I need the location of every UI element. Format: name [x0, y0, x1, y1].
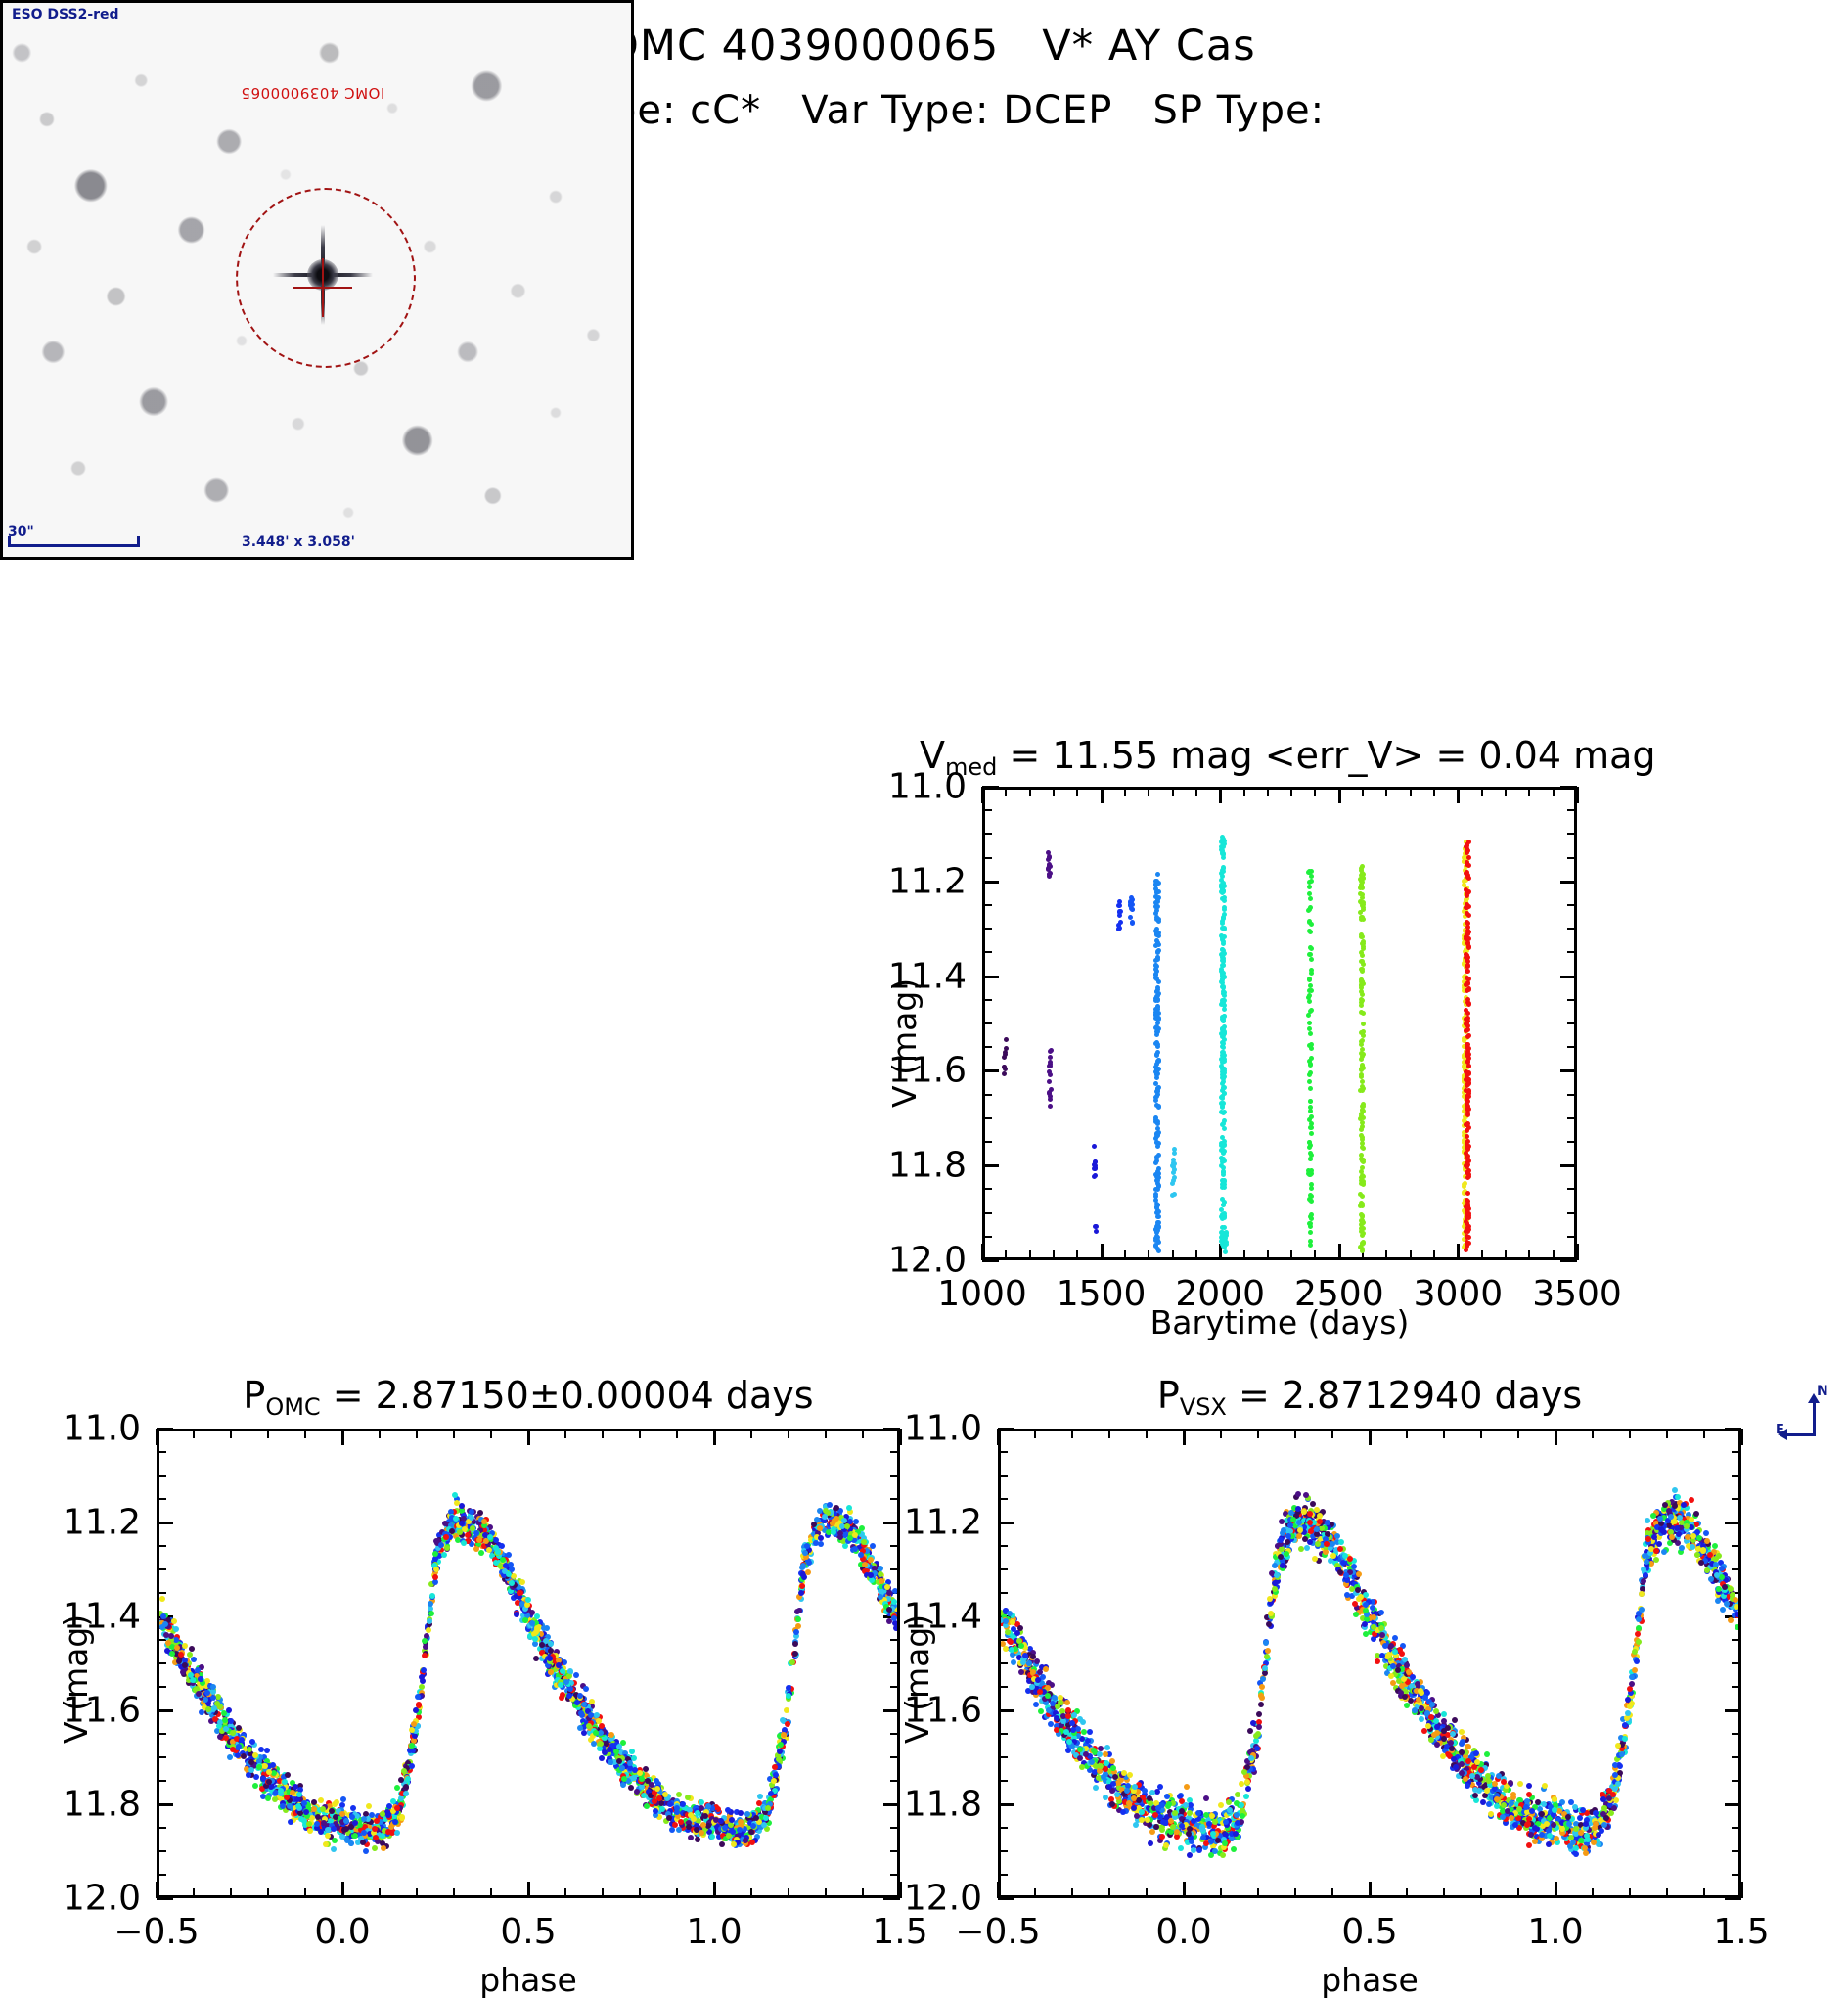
data-point	[1306, 1013, 1311, 1018]
data-point	[1465, 1121, 1470, 1126]
data-point	[1156, 1166, 1161, 1171]
data-point	[171, 1618, 177, 1624]
data-point	[509, 1580, 515, 1586]
data-point	[1359, 1074, 1364, 1079]
data-point	[449, 1528, 455, 1534]
data-point	[1304, 1545, 1310, 1551]
data-point	[598, 1741, 604, 1747]
y-major-tick	[982, 1259, 999, 1262]
data-point	[340, 1796, 346, 1802]
data-point	[1093, 1785, 1099, 1791]
data-point	[1220, 1060, 1225, 1065]
data-point	[230, 1747, 236, 1752]
data-point	[560, 1668, 565, 1674]
data-point	[1465, 1011, 1470, 1016]
data-point	[1360, 1204, 1365, 1208]
data-point	[834, 1516, 839, 1522]
data-point	[288, 1819, 293, 1825]
data-point	[1360, 1054, 1365, 1059]
data-point	[768, 1791, 774, 1796]
data-point	[481, 1519, 487, 1524]
data-point	[1155, 1220, 1160, 1225]
data-point	[1002, 1055, 1007, 1060]
data-point	[813, 1540, 819, 1546]
object-label-overlay: IOMC 4039000065	[241, 84, 384, 102]
data-point	[822, 1514, 828, 1520]
data-point	[426, 1627, 431, 1633]
data-point	[1308, 896, 1313, 901]
data-point	[1360, 953, 1365, 958]
data-point	[366, 1803, 372, 1809]
data-point	[577, 1693, 583, 1699]
data-point	[1309, 957, 1314, 962]
data-point	[599, 1755, 605, 1761]
x-tick-label: 0.0	[314, 1912, 370, 1952]
data-point	[893, 1625, 897, 1631]
x-major-tick	[156, 1429, 158, 1445]
data-point	[778, 1742, 784, 1748]
data-point	[1307, 1145, 1312, 1150]
title-subscript: VSX	[1180, 1393, 1227, 1421]
data-point	[1222, 1024, 1227, 1029]
data-point	[719, 1841, 725, 1847]
data-point	[1156, 1209, 1161, 1214]
data-point	[1359, 967, 1364, 972]
data-point	[196, 1691, 202, 1697]
data-point	[1221, 869, 1226, 874]
data-point	[1004, 1046, 1009, 1051]
data-point	[1154, 1134, 1159, 1139]
data-point	[685, 1795, 691, 1800]
y-tick-label: 11.2	[904, 1503, 982, 1543]
data-point	[776, 1756, 782, 1762]
data-point	[432, 1574, 438, 1580]
data-point	[1307, 988, 1312, 993]
data-point	[298, 1816, 304, 1822]
data-point	[597, 1746, 603, 1751]
data-point	[1221, 841, 1226, 846]
data-point	[423, 1644, 428, 1650]
data-point	[786, 1693, 791, 1699]
data-point	[1466, 1002, 1471, 1007]
data-point	[1465, 1034, 1470, 1039]
data-point	[1359, 884, 1364, 888]
data-point	[1361, 1146, 1366, 1151]
data-point	[1473, 1797, 1479, 1803]
data-point	[1103, 1795, 1108, 1800]
data-point	[548, 1648, 554, 1654]
data-point	[1221, 989, 1226, 994]
data-point	[1308, 930, 1313, 934]
data-point	[749, 1840, 755, 1845]
data-point	[1307, 1197, 1312, 1202]
data-point	[1466, 863, 1471, 868]
data-point	[1404, 1703, 1410, 1708]
data-point	[321, 1820, 327, 1826]
data-point	[318, 1829, 324, 1835]
data-point	[1153, 911, 1158, 916]
data-point	[223, 1726, 229, 1732]
data-point	[750, 1823, 756, 1829]
data-point	[1153, 1117, 1158, 1122]
finder-chart-panel[interactable]: ESO DSS2-red IOMC 4039000065 30" 3.448' …	[0, 0, 634, 560]
data-point	[163, 1632, 169, 1638]
data-point	[1465, 849, 1469, 854]
y-major-tick	[998, 1428, 1014, 1431]
title-subscript: OMC	[265, 1393, 320, 1421]
x-axis-label: phase	[479, 1961, 577, 1999]
data-point	[1308, 983, 1313, 988]
data-point	[433, 1567, 439, 1572]
data-point	[1360, 1165, 1365, 1170]
data-point	[1309, 1186, 1314, 1191]
data-point	[1155, 950, 1160, 955]
data-point	[1224, 1233, 1229, 1238]
data-point	[524, 1602, 530, 1608]
data-point	[165, 1640, 171, 1646]
data-point	[792, 1651, 798, 1657]
data-point	[1465, 893, 1469, 898]
data-point	[886, 1590, 892, 1596]
data-point	[1222, 1068, 1227, 1073]
data-point	[1308, 1157, 1313, 1161]
data-point	[1359, 977, 1364, 982]
data-point	[1466, 1215, 1471, 1220]
data-point	[499, 1543, 505, 1549]
data-point	[695, 1810, 700, 1816]
data-point	[1359, 1127, 1364, 1132]
data-point	[398, 1795, 404, 1801]
data-point	[409, 1743, 415, 1749]
data-point	[793, 1629, 799, 1635]
crosshair-vertical	[322, 258, 324, 317]
data-point	[1309, 1056, 1314, 1061]
data-point	[1465, 1128, 1469, 1133]
data-point	[616, 1744, 622, 1749]
data-point	[1220, 1158, 1225, 1162]
data-point	[1298, 1546, 1304, 1552]
data-point	[1360, 1120, 1365, 1125]
data-point	[608, 1759, 613, 1765]
data-point	[765, 1805, 771, 1811]
data-point	[680, 1801, 686, 1807]
data-point	[1656, 1541, 1662, 1547]
data-point	[878, 1566, 883, 1571]
x-major-tick	[997, 1429, 1000, 1445]
phase-omc-data-layer	[159, 1431, 897, 1895]
data-point	[577, 1725, 583, 1731]
data-point	[311, 1806, 317, 1812]
field-size-label: 3.448' x 3.058'	[242, 534, 355, 550]
data-point	[285, 1772, 291, 1778]
data-point	[1092, 1144, 1097, 1149]
data-point	[1222, 1003, 1227, 1008]
data-point	[303, 1809, 309, 1815]
data-point	[795, 1616, 801, 1622]
data-point	[453, 1516, 459, 1522]
data-point	[1155, 955, 1160, 960]
data-point	[1307, 1140, 1312, 1145]
y-major-tick	[157, 1897, 173, 1900]
data-point	[1221, 881, 1226, 886]
x-tick-label: 3000	[1414, 1274, 1504, 1314]
data-point	[1221, 1045, 1226, 1050]
data-point	[1309, 1131, 1314, 1136]
data-point	[1038, 1708, 1044, 1714]
data-point	[1153, 1192, 1158, 1197]
data-point	[178, 1652, 184, 1658]
data-point	[1360, 1088, 1365, 1093]
data-point	[1359, 1003, 1364, 1008]
data-point	[842, 1543, 848, 1549]
data-point	[454, 1500, 460, 1506]
x-tick-label: 3500	[1532, 1274, 1622, 1314]
data-point	[1672, 1487, 1678, 1493]
data-point	[1309, 1171, 1314, 1176]
data-point	[798, 1590, 804, 1596]
data-point	[343, 1818, 349, 1824]
data-point	[159, 1596, 165, 1602]
data-point	[1172, 1161, 1177, 1166]
data-point	[1222, 898, 1227, 903]
data-point	[1486, 1801, 1492, 1807]
y-axis-label: V (mag)	[898, 1614, 936, 1744]
data-point	[394, 1830, 400, 1836]
data-point	[1466, 913, 1471, 918]
data-point	[645, 1778, 651, 1784]
x-axis-label: phase	[1321, 1961, 1419, 1999]
data-point	[1220, 1031, 1225, 1036]
x-axis-label: Barytime (days)	[1150, 1303, 1410, 1341]
data-point	[702, 1813, 708, 1819]
data-point	[1231, 1846, 1237, 1852]
data-point	[1465, 870, 1469, 875]
data-point	[878, 1594, 883, 1600]
data-point	[1153, 973, 1158, 977]
data-point	[607, 1747, 612, 1752]
data-point	[1465, 969, 1469, 974]
data-point	[870, 1543, 876, 1549]
data-point	[1154, 964, 1159, 969]
data-point	[608, 1732, 614, 1738]
lightcurve-barytime-title: Vmed = 11.55 mag <err_V> = 0.04 mag	[920, 734, 1644, 781]
phase-vsx-data-layer	[1001, 1431, 1738, 1895]
y-tick-label: 12.0	[63, 1879, 141, 1919]
data-point	[756, 1800, 762, 1806]
data-point	[249, 1739, 255, 1745]
data-point	[1361, 1182, 1366, 1187]
data-point	[637, 1770, 643, 1776]
data-point	[676, 1827, 682, 1833]
data-point	[678, 1819, 684, 1825]
data-point	[1048, 871, 1053, 876]
data-point	[1361, 1066, 1366, 1070]
data-point	[763, 1815, 769, 1821]
data-point	[695, 1837, 700, 1842]
data-point	[1308, 1086, 1313, 1091]
data-point	[1309, 1212, 1314, 1217]
data-point	[1220, 1185, 1225, 1190]
data-point	[1048, 1049, 1053, 1054]
data-point	[343, 1826, 349, 1832]
data-point	[827, 1502, 833, 1508]
data-point	[533, 1656, 539, 1661]
data-point	[844, 1523, 850, 1529]
x-major-tick	[981, 787, 984, 803]
data-point	[1092, 1166, 1097, 1171]
data-point	[1361, 1231, 1366, 1236]
y-tick-label: 11.8	[888, 1146, 967, 1186]
data-point	[1465, 905, 1469, 910]
title-symbol: P	[243, 1374, 265, 1417]
data-point	[1419, 1716, 1424, 1722]
y-tick-label: 11.2	[63, 1503, 141, 1543]
data-point	[659, 1806, 665, 1812]
data-point	[373, 1835, 379, 1840]
data-point	[1307, 1026, 1312, 1031]
data-point	[799, 1583, 805, 1589]
data-point	[598, 1730, 604, 1736]
data-point	[1465, 1144, 1469, 1149]
data-point	[1220, 1213, 1225, 1218]
data-point	[676, 1792, 682, 1797]
data-point	[1308, 1063, 1313, 1068]
data-point	[1308, 1109, 1313, 1113]
data-point	[1465, 1134, 1469, 1139]
data-point	[441, 1552, 447, 1558]
data-point	[1452, 1717, 1458, 1723]
data-point	[1360, 1218, 1365, 1223]
y-tick-label: 11.0	[904, 1409, 982, 1449]
data-point	[398, 1777, 404, 1783]
data-point	[1703, 1530, 1709, 1536]
data-point	[265, 1795, 271, 1801]
data-point	[236, 1725, 242, 1731]
data-point	[1360, 934, 1365, 939]
data-point	[862, 1562, 868, 1567]
data-point	[1361, 946, 1366, 951]
x-major-tick	[899, 1429, 902, 1445]
data-point	[1224, 1242, 1229, 1247]
data-point	[722, 1825, 728, 1831]
data-point	[1128, 915, 1133, 920]
data-point	[301, 1800, 307, 1806]
data-point	[853, 1519, 859, 1524]
scale-bar-label: 30"	[8, 524, 34, 540]
x-major-tick	[1576, 1244, 1579, 1260]
data-point	[1526, 1842, 1532, 1848]
y-major-tick	[157, 1428, 173, 1431]
data-point	[1004, 1037, 1009, 1042]
data-point	[252, 1783, 258, 1789]
data-point	[1728, 1617, 1734, 1623]
data-point	[1465, 1209, 1469, 1214]
data-point	[514, 1612, 519, 1617]
data-point	[573, 1672, 579, 1678]
data-point	[653, 1808, 658, 1814]
data-point	[1466, 1174, 1471, 1179]
data-point	[413, 1707, 419, 1713]
data-point	[1221, 1079, 1226, 1084]
y-tick-label: 11.0	[888, 767, 967, 807]
data-point	[339, 1811, 345, 1817]
data-point	[1361, 1159, 1366, 1164]
data-point	[198, 1676, 203, 1682]
data-point	[700, 1822, 706, 1828]
data-point	[1392, 1635, 1398, 1641]
x-tick-label: 1.0	[686, 1912, 742, 1952]
y-axis-label: V (mag)	[885, 978, 924, 1108]
y-major-tick	[883, 1428, 900, 1431]
data-point	[428, 1601, 433, 1607]
y-axis-label: V (mag)	[57, 1614, 95, 1744]
data-point	[1221, 851, 1226, 856]
data-point	[403, 1791, 409, 1796]
data-point	[709, 1834, 715, 1840]
data-point	[421, 1667, 427, 1673]
data-point	[443, 1534, 449, 1540]
data-point	[478, 1550, 484, 1556]
data-point	[182, 1662, 188, 1668]
data-point	[331, 1846, 337, 1852]
data-point	[350, 1805, 356, 1811]
data-point	[173, 1637, 179, 1643]
data-point	[886, 1607, 892, 1613]
data-point	[1219, 1207, 1224, 1212]
data-point	[459, 1521, 465, 1526]
data-point	[861, 1539, 867, 1545]
data-point	[428, 1611, 434, 1616]
data-point	[1720, 1607, 1726, 1613]
data-point	[1307, 1043, 1312, 1048]
phase-vsx-title: PVSX = 2.8712940 days	[959, 1374, 1780, 1421]
y-tick-label: 11.2	[888, 861, 967, 901]
data-point	[1465, 1226, 1469, 1231]
data-point	[652, 1798, 657, 1804]
data-point	[173, 1626, 179, 1632]
x-major-tick	[997, 1882, 1000, 1898]
data-point	[235, 1745, 241, 1750]
data-point	[493, 1537, 499, 1543]
lightcurve-barytime-data-layer	[985, 790, 1574, 1257]
data-point	[1466, 1064, 1471, 1068]
data-point	[771, 1778, 777, 1784]
y-major-tick	[982, 786, 999, 789]
data-point	[1049, 1087, 1054, 1092]
data-point	[442, 1521, 448, 1526]
data-point	[361, 1816, 367, 1822]
x-major-tick	[156, 1882, 158, 1898]
finder-chart-frame: ESO DSS2-red IOMC 4039000065 30" 3.448' …	[0, 0, 634, 560]
data-point	[332, 1801, 338, 1807]
y-tick-label: 11.8	[63, 1785, 141, 1825]
data-point	[586, 1723, 592, 1729]
data-point	[667, 1801, 673, 1807]
data-point	[217, 1704, 223, 1709]
data-point	[792, 1641, 798, 1647]
x-major-tick	[899, 1882, 902, 1898]
data-point	[784, 1707, 789, 1713]
data-point	[318, 1797, 324, 1803]
data-point	[493, 1560, 499, 1566]
x-major-tick	[1576, 787, 1579, 803]
data-point	[1307, 993, 1312, 998]
data-point	[1048, 1094, 1053, 1099]
data-point	[1220, 958, 1225, 963]
data-point	[1309, 922, 1314, 927]
data-point	[818, 1535, 824, 1541]
data-point	[567, 1668, 573, 1674]
